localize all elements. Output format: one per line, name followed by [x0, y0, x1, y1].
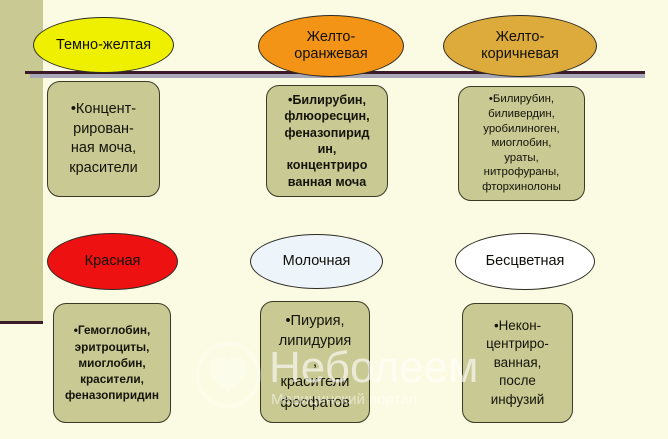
ellipse-dark-yellow[interactable]: Темно-желтая: [33, 17, 174, 73]
causes-box-milky: •Пиурия, липидурия , красители фосфатов: [260, 301, 370, 423]
causes-box-dark-yellow: •Концент- рирован- ная моча, красители: [47, 81, 160, 197]
causes-text: •Пиурия, липидурия , красители фосфатов: [266, 311, 364, 414]
causes-box-yellow-orange: •Билирубин, флюоресцин, феназопирид ин, …: [266, 85, 388, 197]
ellipse-colorless[interactable]: Бесцветная: [455, 233, 595, 290]
ellipse-label: Желто- оранжевая: [294, 29, 367, 63]
causes-text: •Концент- рирован- ная моча, красители: [53, 100, 154, 178]
watermark-logo-icon: [195, 342, 261, 408]
bottom-horizontal-rule: [0, 321, 43, 324]
ellipse-yellow-brown[interactable]: Желто- коричневая: [443, 15, 597, 77]
causes-box-colorless: •Некон- центриро- ванная, после инфузий: [462, 303, 573, 423]
causes-box-yellow-brown: •Билирубин, биливердин, уробилиноген, ми…: [458, 86, 585, 201]
ellipse-milky[interactable]: Молочная: [250, 234, 383, 289]
causes-text: •Билирубин, флюоресцин, феназопирид ин, …: [272, 92, 382, 190]
ellipse-yellow-orange[interactable]: Желто- оранжевая: [258, 15, 404, 77]
diagram-canvas: Темно-желтая •Концент- рирован- ная моча…: [0, 0, 668, 439]
causes-text: •Гемоглобин, эритроциты, миоглобин, крас…: [59, 322, 165, 403]
ellipse-label: Молочная: [283, 253, 351, 270]
ellipse-label: Бесцветная: [486, 253, 565, 270]
causes-text: •Билирубин, биливердин, уробилиноген, ми…: [464, 92, 579, 194]
causes-text: •Некон- центриро- ванная, после инфузий: [468, 317, 567, 410]
ellipse-label: Красная: [85, 253, 141, 270]
ellipse-red[interactable]: Красная: [47, 233, 178, 290]
ellipse-label: Темно-желтая: [56, 37, 151, 54]
ellipse-label: Желто- коричневая: [481, 29, 559, 63]
causes-box-red: •Гемоглобин, эритроциты, миоглобин, крас…: [53, 303, 171, 423]
